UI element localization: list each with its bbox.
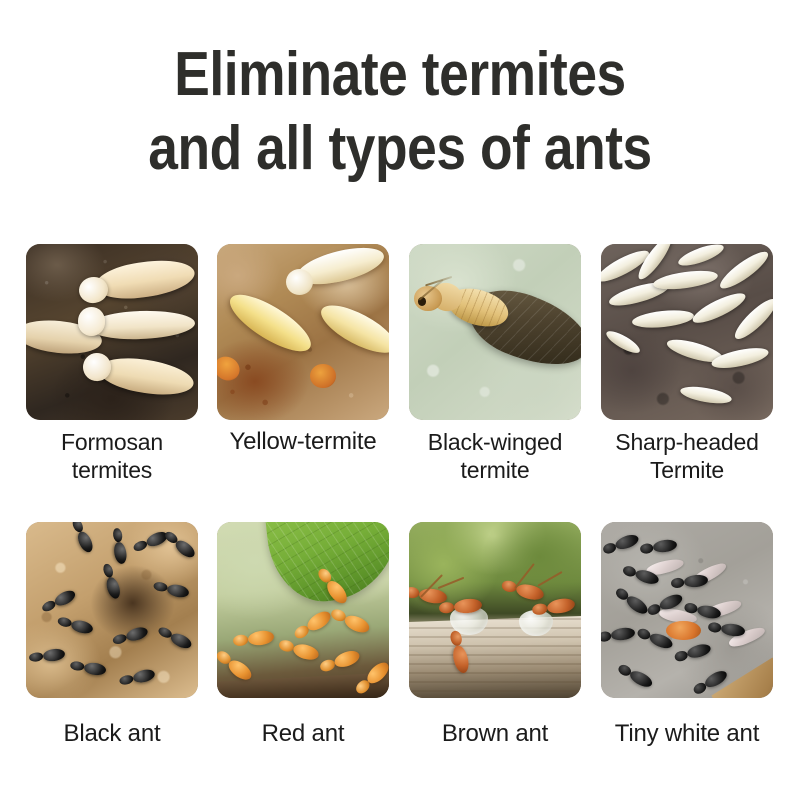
pest-poster: Eliminate termites and all types of ants…	[0, 0, 800, 800]
branch	[409, 616, 581, 698]
termite-head	[286, 269, 314, 295]
grid-item-formosan-termites[interactable]: Formosan termites	[26, 244, 198, 484]
grid-item-black-ant[interactable]: Black ant	[26, 522, 198, 748]
black-winged-termite-photo[interactable]	[409, 244, 581, 420]
photo-texture	[26, 522, 198, 698]
page-title: Eliminate termites and all types of ants	[56, 38, 744, 186]
caption-black-ant: Black ant	[26, 720, 198, 748]
black-ant-photo[interactable]	[26, 522, 198, 698]
caption-red-ant: Red ant	[217, 720, 389, 748]
caption-formosan-termites: Formosan termites	[7, 428, 217, 484]
grid-item-red-ant[interactable]: Red ant	[217, 522, 389, 748]
caption-tiny-white-ant: Tiny white ant	[601, 720, 773, 748]
yellow-termite-photo[interactable]	[217, 244, 389, 420]
grid-item-tiny-white-ant[interactable]: Tiny white ant	[601, 522, 773, 748]
termite-head	[310, 364, 336, 389]
caption-sharp-headed-termite: Sharp-headed Termite	[582, 428, 792, 484]
grid-item-brown-ant[interactable]: Brown ant	[409, 522, 581, 748]
caption-brown-ant: Brown ant	[409, 720, 581, 748]
grid-item-sharp-headed-termite[interactable]: Sharp-headed Termite	[601, 244, 773, 484]
headline-line-2: and all types of ants	[56, 112, 744, 186]
grid-item-yellow-termite[interactable]: Yellow-termite	[217, 244, 389, 456]
termite-head	[78, 307, 106, 335]
red-ant-photo[interactable]	[217, 522, 389, 698]
tiny-white-ant-photo[interactable]	[601, 522, 773, 698]
headline-line-1: Eliminate termites	[56, 38, 744, 112]
sharp-headed-termite-photo[interactable]	[601, 244, 773, 420]
caption-yellow-termite: Yellow-termite	[198, 428, 408, 456]
brown-ant-photo[interactable]	[409, 522, 581, 698]
caption-black-winged-termite: Black-winged termite	[390, 428, 600, 484]
formosan-termites-photo[interactable]	[26, 244, 198, 420]
grid-item-black-winged-termite[interactable]: Black-winged termite	[409, 244, 581, 484]
prey-item	[666, 621, 700, 640]
